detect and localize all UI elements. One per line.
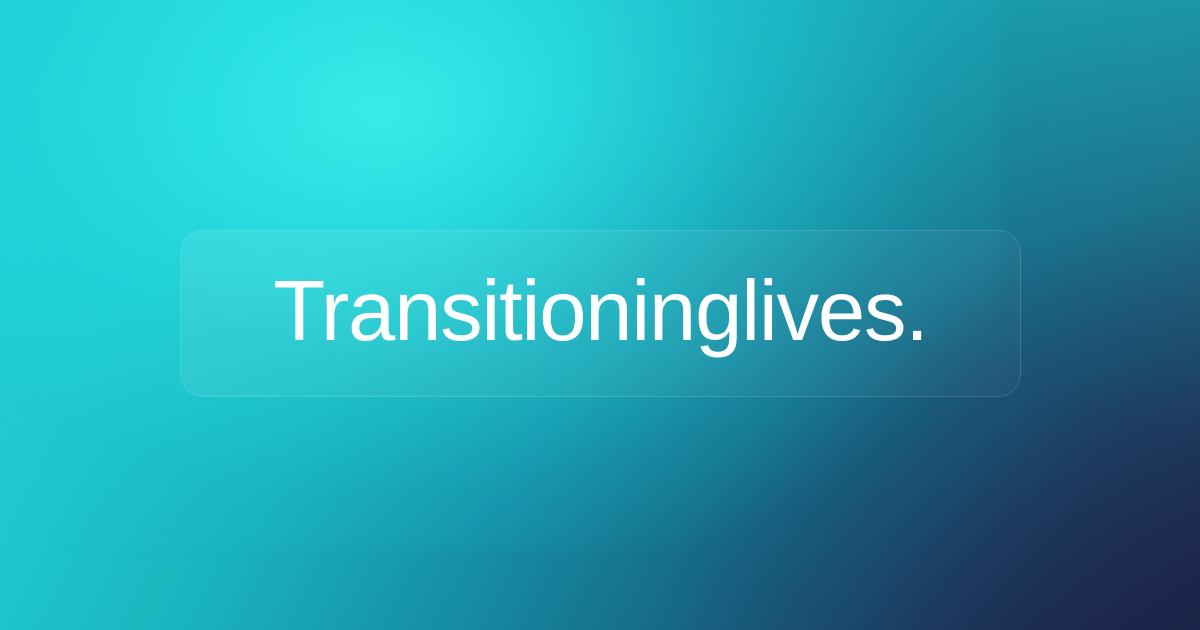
preview-canvas: Transitioninglives. <box>0 0 1200 630</box>
glass-title-card: Transitioninglives. <box>180 230 1021 397</box>
page-title: Transitioninglives. <box>273 269 927 358</box>
